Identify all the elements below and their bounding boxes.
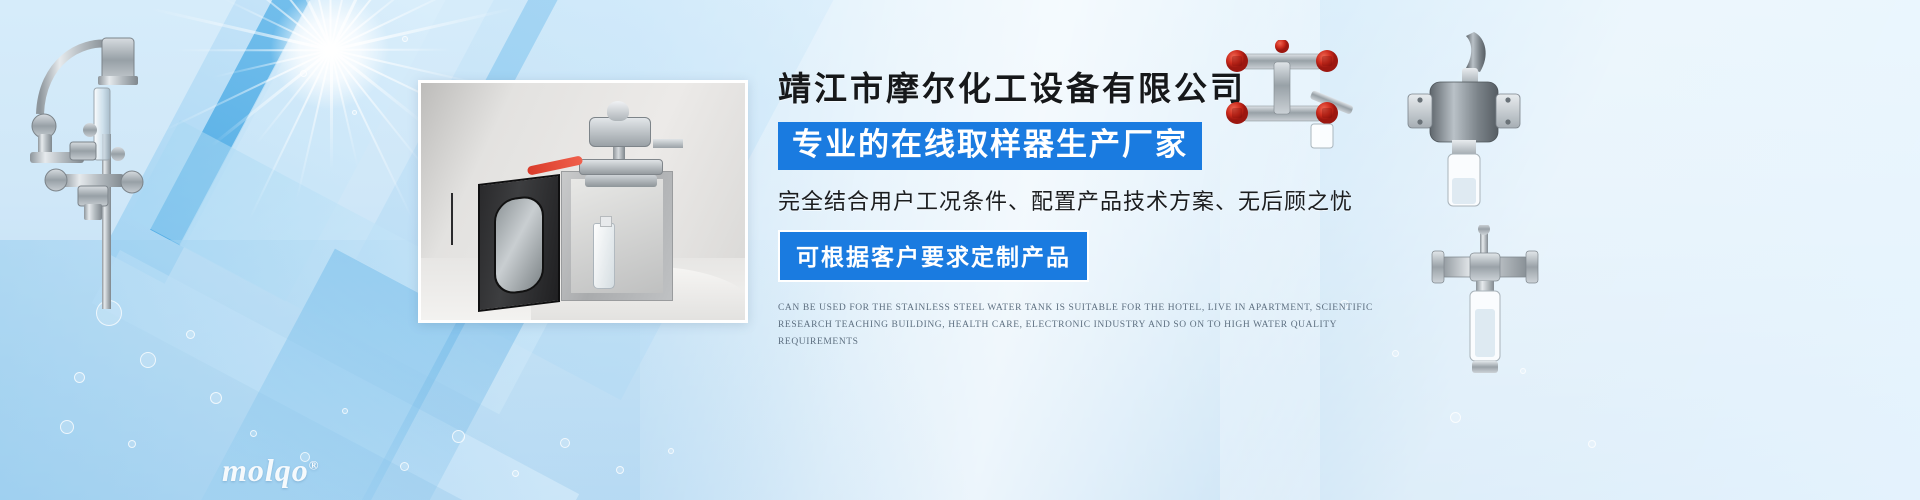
bubble — [74, 372, 85, 383]
sunburst-ray — [296, 50, 332, 200]
sunburst-ray — [330, 0, 425, 51]
sunburst-ray — [330, 0, 332, 50]
photo-door-cord — [451, 193, 453, 245]
product-image-compact-sampler — [1430, 225, 1540, 385]
bubble — [616, 466, 624, 474]
watermark-registered-mark: ® — [309, 457, 320, 472]
photo-valve-knob — [607, 101, 629, 121]
sub-headline: 完全结合用户工况条件、配置产品技术方案、无后顾之忧 — [778, 184, 1398, 216]
photo-cabinet-door — [478, 174, 560, 312]
sunburst-ray — [210, 0, 331, 51]
cta-wrapper: 可根据客户要求定制产品 — [778, 230, 1398, 282]
product-image-flanged-valve — [1400, 28, 1530, 218]
photo-valve-body — [589, 117, 651, 147]
sunburst-ray — [222, 0, 331, 51]
sunburst-ray — [330, 50, 358, 167]
sunburst-ray — [148, 7, 332, 52]
bubble — [668, 448, 674, 454]
bubble — [452, 430, 465, 443]
cta-badge[interactable]: 可根据客户要求定制产品 — [778, 230, 1089, 282]
photo-cabinet-interior — [571, 179, 663, 293]
sunburst-ray — [213, 0, 331, 50]
photo-flange-lower — [585, 175, 657, 187]
bubble — [1450, 412, 1461, 423]
bubble — [400, 462, 409, 471]
sunburst-core — [270, 0, 390, 110]
product-photo — [418, 80, 748, 323]
bubble — [402, 36, 408, 42]
sunburst-ray — [330, 0, 358, 50]
sunburst-ray — [330, 50, 333, 170]
bubble — [352, 110, 357, 115]
diagonal-ribbon — [150, 0, 382, 246]
sunburst-ray — [296, 0, 332, 50]
sunburst-ray — [330, 0, 400, 51]
sunburst-ray — [278, 0, 333, 51]
sunburst-ray — [161, 49, 331, 132]
sunburst-ray — [331, 49, 427, 126]
promo-banner: 靖江市摩尔化工设备有限公司 专业的在线取样器生产厂家 完全结合用户工况条件、配置… — [0, 0, 1920, 500]
bubble — [1392, 350, 1399, 357]
english-caption: CAN BE USED FOR THE STAINLESS STEEL WATE… — [778, 300, 1378, 350]
sunburst-ray — [330, 50, 413, 220]
bubble — [140, 352, 156, 368]
bubble — [300, 70, 307, 77]
photo-sample-bottle — [593, 223, 615, 289]
bubble — [342, 408, 348, 414]
product-image-cross-manifold — [1215, 40, 1365, 155]
sunburst-ray — [249, 50, 332, 220]
sunburst-ray — [214, 49, 331, 77]
bubble — [60, 420, 74, 434]
bubble — [128, 440, 136, 448]
bubble — [512, 470, 519, 477]
headline-badge: 专业的在线取样器生产厂家 — [778, 122, 1202, 171]
bubble — [560, 438, 570, 448]
bubble — [1588, 440, 1596, 448]
sunburst-ray — [330, 50, 427, 171]
bubble — [210, 392, 222, 404]
photo-door-window — [494, 194, 544, 296]
sunburst-ray — [255, 50, 331, 145]
sunburst-ray — [330, 0, 448, 50]
sunburst-ray — [331, 7, 515, 52]
sunburst-ray — [331, 49, 451, 51]
watermark-logo: molqo® — [222, 452, 320, 489]
bubble — [250, 430, 257, 437]
photo-outlet-pipe — [653, 139, 683, 148]
sunburst-ray — [177, 49, 331, 51]
photo-flange-upper — [579, 159, 663, 175]
product-image-left-sampler — [10, 22, 170, 312]
sunburst-ray — [210, 49, 332, 147]
sunburst-ray — [330, 0, 469, 51]
watermark-text: molqo — [222, 452, 309, 488]
bubble — [186, 330, 195, 339]
